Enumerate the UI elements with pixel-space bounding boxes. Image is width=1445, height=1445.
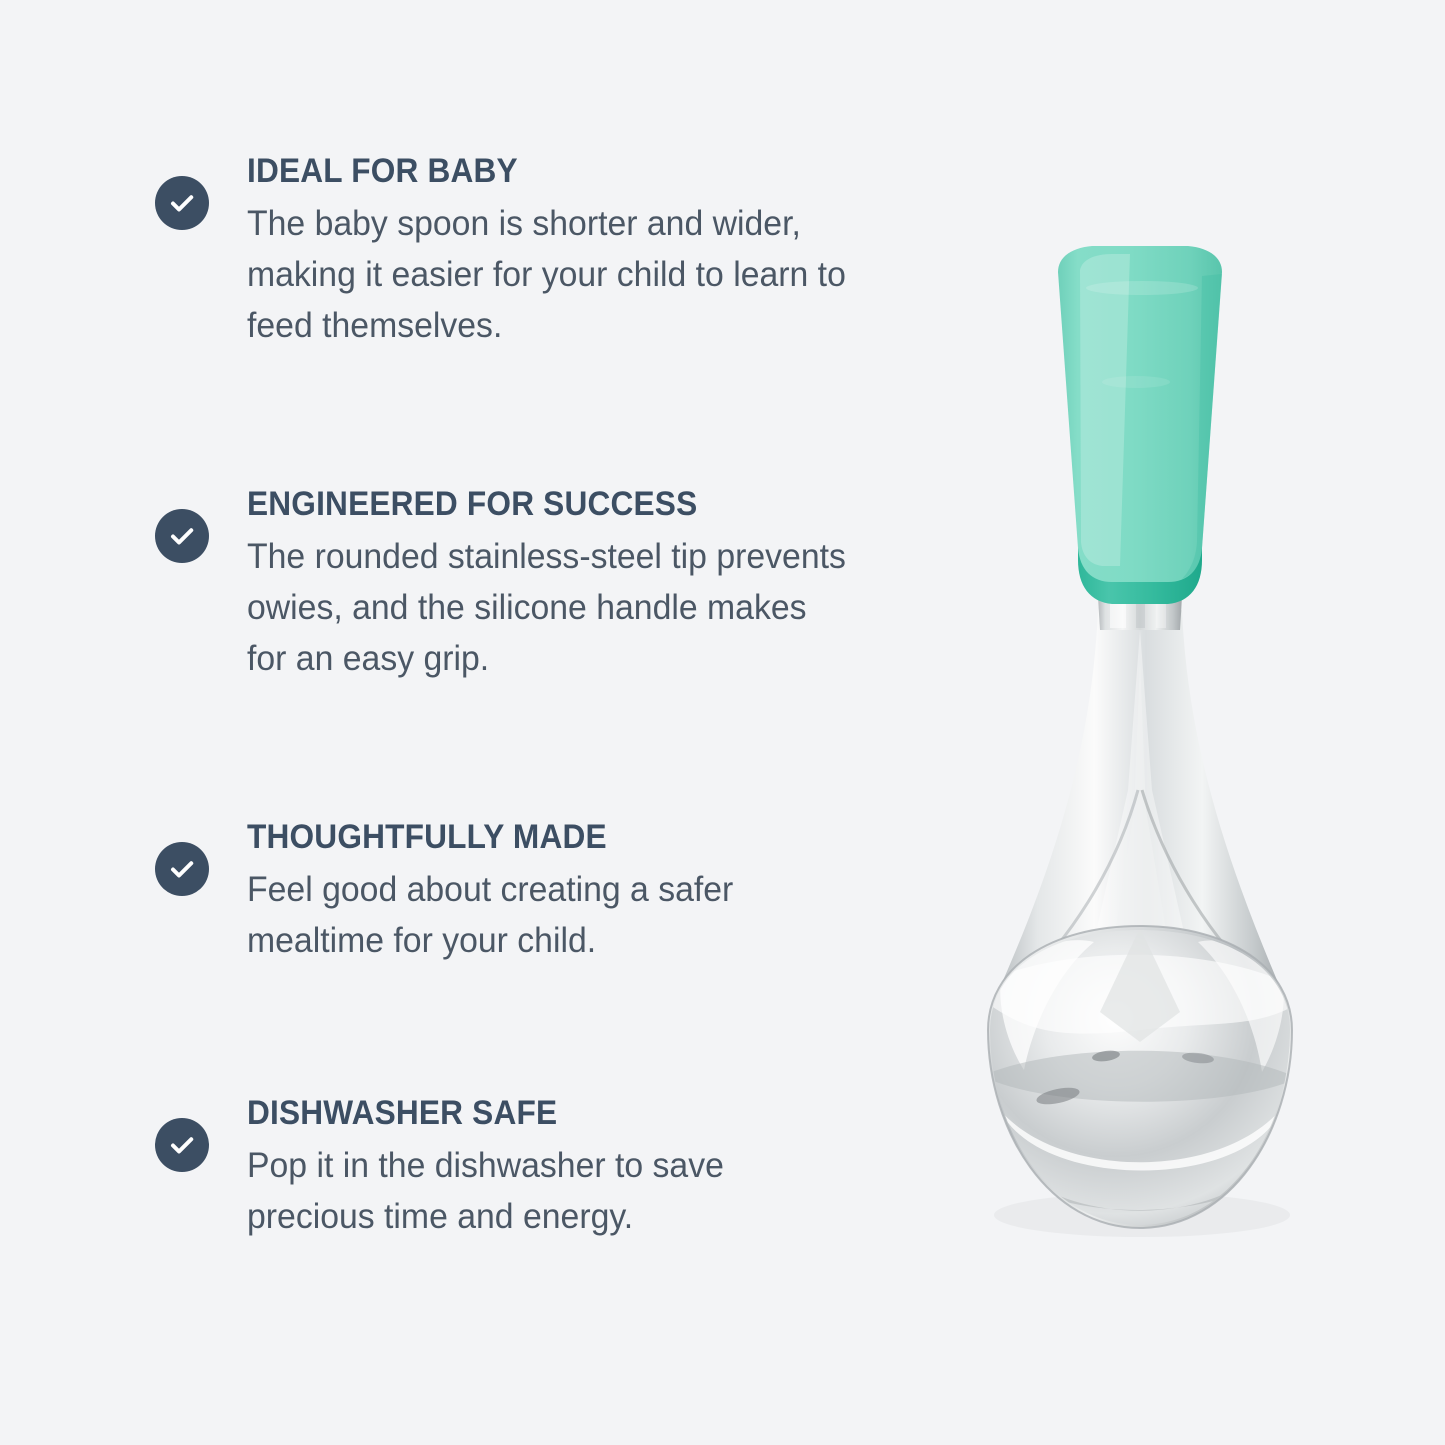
feature-heading: ENGINEERED FOR SUCCESS: [247, 483, 828, 525]
feature-body: The baby spoon is shorter and wider, mak…: [247, 198, 850, 351]
check-circle-icon: [155, 1118, 209, 1172]
feature-heading: DISHWASHER SAFE: [247, 1092, 828, 1134]
feature-heading: THOUGHTFULLY MADE: [247, 816, 828, 858]
feature-body: Feel good about creating a safer mealtim…: [247, 864, 850, 966]
product-feature-infographic: IDEAL FOR BABY The baby spoon is shorter…: [0, 0, 1445, 1445]
feature-heading: IDEAL FOR BABY: [247, 150, 828, 192]
feature-item: THOUGHTFULLY MADE Feel good about creati…: [152, 816, 872, 966]
feature-item: IDEAL FOR BABY The baby spoon is shorter…: [152, 150, 872, 351]
feature-item: ENGINEERED FOR SUCCESS The rounded stain…: [152, 483, 872, 684]
baby-spoon-photo: [930, 230, 1350, 1260]
check-circle-icon: [155, 176, 209, 230]
feature-item: DISHWASHER SAFE Pop it in the dishwasher…: [152, 1092, 872, 1242]
feature-body: Pop it in the dishwasher to save preciou…: [247, 1140, 850, 1242]
check-circle-icon: [155, 509, 209, 563]
check-circle-icon: [155, 842, 209, 896]
feature-body: The rounded stainless-steel tip prevents…: [247, 531, 850, 684]
